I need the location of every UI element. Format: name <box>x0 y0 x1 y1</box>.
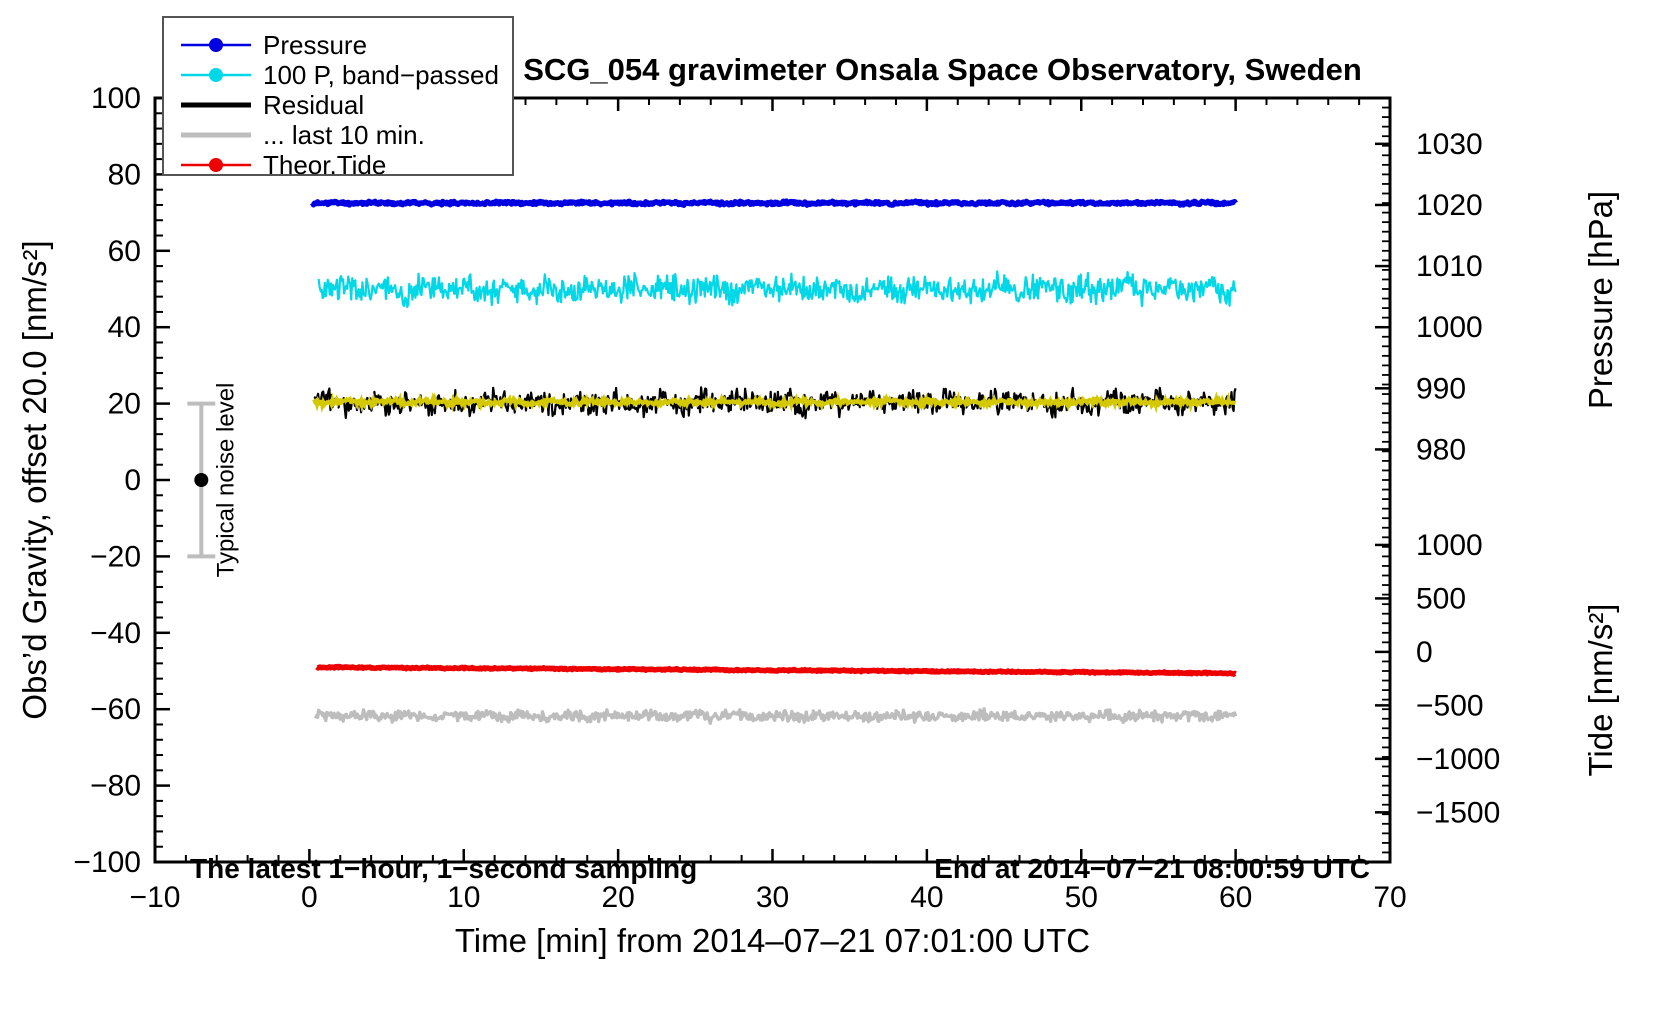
tide-axis-title: Tide [nm/s²] <box>1582 604 1619 777</box>
tide-tick-label: 1000 <box>1416 529 1483 562</box>
legend-label-4: Theor.Tide <box>263 150 386 180</box>
noise-level-label: Typical noise level <box>212 383 239 578</box>
y-tick-label: 0 <box>124 464 141 497</box>
y-tick-label: 100 <box>91 82 141 115</box>
x-tick-label: 40 <box>910 881 943 914</box>
pressure-tick-label: 1020 <box>1416 189 1483 222</box>
legend-label-2: Residual <box>263 90 364 120</box>
x-tick-label: 50 <box>1065 881 1098 914</box>
y-tick-label: −20 <box>90 540 141 573</box>
pressure-tick-label: 1030 <box>1416 128 1483 161</box>
tide-tick-label: 500 <box>1416 582 1466 615</box>
x-tick-label: 10 <box>447 881 480 914</box>
series-pressure <box>313 201 1236 205</box>
pressure-tick-label: 990 <box>1416 372 1466 405</box>
legend-label-0: Pressure <box>263 30 367 60</box>
y-tick-label: −80 <box>90 770 141 803</box>
tide-tick-label: −500 <box>1416 689 1484 722</box>
y-tick-label: 80 <box>108 158 141 191</box>
tide-tick-label: −1500 <box>1416 796 1500 829</box>
legend-marker-4 <box>209 158 223 172</box>
y-tick-label: −100 <box>73 846 141 879</box>
x-tick-label: 0 <box>301 881 318 914</box>
x-tick-label: −10 <box>130 881 181 914</box>
legend-label-3: ... last 10 min. <box>263 120 425 150</box>
y-tick-label: −40 <box>90 617 141 650</box>
chart-figure: −10010203040506070−100−80−60−40−20020406… <box>0 0 1660 1020</box>
chart-title: SCG_054 gravimeter Onsala Space Observat… <box>523 52 1362 87</box>
tide-tick-label: −1000 <box>1416 743 1500 776</box>
noise-center-dot <box>194 473 208 487</box>
annotation-bottom-right: End at 2014−07−21 08:00:59 UTC <box>934 853 1370 884</box>
legend-marker-1 <box>209 68 223 82</box>
x-tick-label: 70 <box>1373 881 1406 914</box>
plot-frame <box>155 98 1390 862</box>
series-100-p-band-passed <box>319 271 1236 307</box>
y-tick-label: −60 <box>90 693 141 726</box>
pressure-tick-label: 980 <box>1416 433 1466 466</box>
gravimeter-timeseries-chart: −10010203040506070−100−80−60−40−20020406… <box>0 0 1660 1020</box>
y-axis-title: Obs’d Gravity, offset 20.0 [nm/s²] <box>16 240 53 719</box>
x-tick-label: 60 <box>1219 881 1252 914</box>
pressure-axis-title: Pressure [hPa] <box>1582 191 1619 409</box>
y-tick-label: 40 <box>108 311 141 344</box>
legend-marker-0 <box>209 38 223 52</box>
y-tick-label: 60 <box>108 235 141 268</box>
pressure-tick-label: 1000 <box>1416 311 1483 344</box>
tide-tick-label: 0 <box>1416 636 1433 669</box>
series-last-10-min <box>316 709 1236 724</box>
pressure-tick-label: 1010 <box>1416 250 1483 283</box>
annotation-bottom-left: The latest 1−hour, 1−second sampling <box>190 853 697 884</box>
x-tick-label: 20 <box>601 881 634 914</box>
x-axis-title: Time [min] from 2014–07–21 07:01:00 UTC <box>455 922 1090 959</box>
series-theor-tide <box>317 667 1236 675</box>
legend-label-1: 100 P, band−passed <box>263 60 499 90</box>
x-tick-label: 30 <box>756 881 789 914</box>
y-tick-label: 20 <box>108 388 141 421</box>
